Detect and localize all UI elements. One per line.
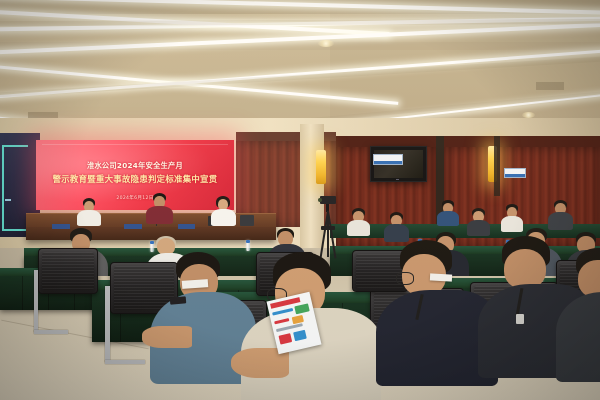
conference-chair[interactable]: [352, 250, 406, 290]
screen-title-line-1: 淮水公司2024年安全生产月: [36, 161, 234, 171]
conference-room-photo: 淮水公司2024年安全生产月 警示教育暨重大事故隐患判定标准集中宣贯 2024年…: [0, 0, 600, 400]
water-bottle: [246, 240, 250, 251]
nameplate: [178, 224, 195, 229]
conference-chair[interactable]: [38, 248, 96, 292]
nameplate: [124, 224, 142, 229]
screen-date-line: 2024年6月12日: [36, 195, 234, 201]
wall-sign: [373, 154, 403, 165]
water-bottle: [150, 241, 154, 252]
wall-column-slot: [494, 136, 500, 196]
ceiling-downlight: [318, 40, 334, 47]
nameplate: [52, 224, 70, 229]
wall-sign: [504, 168, 526, 178]
ceiling-vent: [536, 82, 564, 90]
smartphone[interactable]: [170, 296, 187, 304]
screen-title-line-2: 警示教育暨重大事故隐患判定标准集中宣贯: [36, 173, 234, 185]
wall-sconce-light: [316, 150, 326, 184]
handout-paper[interactable]: [430, 273, 452, 281]
badge: [516, 314, 524, 324]
projection-screen: 淮水公司2024年安全生产月 警示教育暨重大事故隐患判定标准集中宣贯 2024年…: [36, 140, 234, 210]
glasses-icon: [396, 272, 414, 285]
